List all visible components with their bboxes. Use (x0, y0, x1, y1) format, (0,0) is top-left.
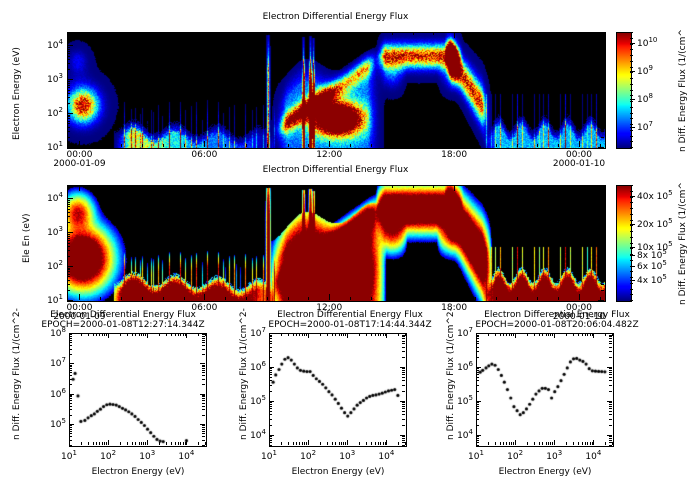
sp-ytick-minor (609, 357, 612, 358)
xtick-date-top-0: 2000-01-09 (49, 159, 109, 169)
sp-ytick-minor (476, 438, 479, 439)
sp-xtick-minor (539, 333, 540, 336)
ytick-minor (601, 200, 604, 201)
xtick-date-bottom-0: 2000-01-09 (49, 312, 109, 322)
sp-xtick-minor (299, 442, 300, 445)
ytick-minor (67, 93, 70, 94)
ytick-minor (601, 204, 604, 205)
sp-xtick-label-left-3: 104 (164, 449, 208, 462)
sp-xtick-minor (405, 333, 406, 336)
sp-xtick (308, 440, 309, 445)
sp-xtick-minor (398, 333, 399, 336)
ytick-minor (67, 243, 70, 244)
sp-xtick-minor (341, 442, 342, 445)
sp-ytick-minor (402, 377, 405, 378)
xtick (184, 32, 185, 35)
sp-xtick (593, 440, 594, 445)
sp-ytick-minor (402, 385, 405, 386)
ytick-minor (67, 97, 70, 98)
sp-ytick-minor (609, 402, 612, 403)
xtick (79, 141, 80, 147)
sp-xtick (386, 333, 387, 338)
sp-xtick-minor (552, 333, 553, 336)
cbtick-minor (630, 208, 633, 209)
sp-xtick-minor (183, 442, 184, 445)
sp-xtick-minor (93, 442, 94, 445)
sp-xtick-minor (132, 442, 133, 445)
cbtick-minor (630, 294, 633, 295)
sp-ytick-minor (269, 347, 272, 348)
sp-ytick-minor (476, 402, 479, 403)
ytick-minor (67, 236, 70, 237)
sp-xtick-minor (304, 333, 305, 336)
xtick (433, 297, 434, 300)
ytick-minor (601, 115, 604, 116)
sp-ytick-minor (269, 351, 272, 352)
sp-xtick-minor (378, 333, 379, 336)
sp-ytick-minor (609, 406, 612, 407)
xtick (433, 144, 434, 147)
sp-ytick-minor (69, 398, 72, 399)
sp-ytick-minor (269, 445, 272, 446)
sp-ytick-minor (609, 380, 612, 381)
sp-ytick-minor (476, 380, 479, 381)
sp-xtick-minor (332, 442, 333, 445)
sp-xtick-minor (542, 333, 543, 336)
ytick-major (598, 79, 604, 80)
spectrum-right-xlabel: Electron Energy (eV) (477, 467, 613, 477)
sp-xtick-minor (585, 333, 586, 336)
sp-xtick-minor (81, 333, 82, 336)
ytick-minor (601, 69, 604, 70)
sp-xtick-minor (548, 333, 549, 336)
sp-xtick-label-right-2: 103 (532, 449, 576, 462)
sp-ytick-minor (609, 377, 612, 378)
sp-ytick-minor (269, 402, 272, 403)
ytick-minor (601, 216, 604, 217)
sp-ytick-minor (476, 391, 479, 392)
cbtick-minor (630, 72, 633, 73)
ytick-minor (67, 49, 70, 50)
xtick (433, 32, 434, 35)
xtick (225, 144, 226, 147)
sp-ytick-minor (476, 343, 479, 344)
xtick (142, 32, 143, 35)
sp-ytick-label-middle-2: 106 (241, 360, 266, 373)
ytick-major (67, 232, 73, 233)
sp-ytick-minor (402, 357, 405, 358)
ytick-minor (67, 269, 70, 270)
sp-ytick-minor (69, 354, 72, 355)
xtick (454, 185, 455, 191)
sp-ytick-minor (476, 341, 479, 342)
ytick-label-bottom-4: 104 (37, 191, 63, 204)
xtick (163, 144, 164, 147)
sp-xtick-minor (320, 333, 321, 336)
ytick-minor (67, 276, 70, 277)
ytick-minor (601, 87, 604, 88)
ytick-minor (601, 206, 604, 207)
sp-xtick-minor (552, 442, 553, 445)
sp-ytick-minor (69, 372, 72, 373)
sp-xtick (308, 333, 309, 338)
ytick-minor (67, 204, 70, 205)
sp-xtick-minor (102, 333, 103, 336)
ytick-minor (601, 222, 604, 223)
ytick-minor (67, 238, 70, 239)
sp-xtick-minor (88, 333, 89, 336)
sp-ytick-minor (476, 408, 479, 409)
xtick (184, 144, 185, 147)
sp-ytick-minor (269, 425, 272, 426)
ytick-minor (601, 276, 604, 277)
sp-xtick (347, 440, 348, 445)
sp-ytick-minor (202, 368, 205, 369)
ytick-minor (601, 209, 604, 210)
sp-xtick-minor (550, 442, 551, 445)
xtick (475, 144, 476, 147)
cbtick-minor (630, 271, 633, 272)
xtick (433, 185, 434, 188)
sp-xtick-label-right-0: 101 (454, 449, 498, 462)
sp-xtick-minor (587, 442, 588, 445)
ytick-minor (601, 127, 604, 128)
sp-ytick-minor (69, 366, 72, 367)
sp-ytick-minor (202, 406, 205, 407)
sp-xtick-minor (500, 333, 501, 336)
xtick (579, 32, 580, 38)
sp-xtick-minor (293, 333, 294, 336)
sp-xtick-minor (345, 333, 346, 336)
cbtick-minor (630, 260, 633, 261)
xtick (246, 185, 247, 188)
xtick (496, 32, 497, 35)
sp-xtick-minor (339, 442, 340, 445)
sp-xtick-minor (288, 333, 289, 336)
sp-xtick-minor (592, 333, 593, 336)
sp-xtick-minor (573, 333, 574, 336)
ytick-minor (67, 284, 70, 285)
sp-xtick-minor (127, 333, 128, 336)
sp-ytick-minor (402, 419, 405, 420)
sp-ytick-minor (476, 368, 479, 369)
sp-ytick-minor (202, 398, 205, 399)
ytick-major (598, 147, 604, 148)
sp-ytick-minor (402, 370, 405, 371)
xtick (579, 141, 580, 147)
sp-ytick-minor (269, 391, 272, 392)
sp-ytick-minor (402, 436, 405, 437)
sp-ytick-minor (269, 414, 272, 415)
cbtick-label-bottom-0: 4x 105 (637, 273, 667, 286)
cbtick-minor (630, 248, 633, 249)
sp-xtick-minor (104, 333, 105, 336)
sp-xtick-minor (511, 442, 512, 445)
sp-xtick-minor (495, 442, 496, 445)
spectrogram-bottom-ylabel: Ele En (eV) (22, 213, 32, 263)
ytick-minor (601, 51, 604, 52)
sp-ytick-minor (609, 347, 612, 348)
sp-ytick-minor (69, 384, 72, 385)
cbtick-label-bottom-3: 10x 105 (637, 240, 673, 253)
sp-xtick-minor (288, 442, 289, 445)
xtick (288, 297, 289, 300)
sp-xtick-minor (503, 442, 504, 445)
sp-ytick-minor (69, 403, 72, 404)
cbtick-minor (630, 277, 633, 278)
ytick-label-top-4: 104 (37, 38, 63, 51)
ytick-minor (67, 103, 70, 104)
cbtick-minor (630, 266, 633, 267)
sp-ytick-minor (609, 419, 612, 420)
sp-xtick-minor (341, 333, 342, 336)
sp-ytick-minor (202, 396, 205, 397)
sp-xtick-minor (503, 333, 504, 336)
sp-xtick-minor (135, 333, 136, 336)
xtick (308, 185, 309, 188)
sp-xtick-minor (281, 442, 282, 445)
sp-ytick-minor (609, 351, 612, 352)
xtick (558, 144, 559, 147)
sp-ytick-minor (476, 372, 479, 373)
sp-xtick (108, 333, 109, 338)
sp-ytick-minor (202, 342, 205, 343)
sp-ytick-minor (269, 377, 272, 378)
sp-xtick-minor (405, 442, 406, 445)
sp-ytick-label-middle-1: 105 (241, 394, 266, 407)
ytick-minor (601, 274, 604, 275)
sp-xtick-minor (306, 442, 307, 445)
ytick-major (598, 113, 604, 114)
xtick (225, 297, 226, 300)
ytick-minor (67, 206, 70, 207)
ytick-minor (601, 123, 604, 124)
sp-ytick-minor (402, 372, 405, 373)
cbtick-minor (630, 124, 633, 125)
sp-xtick-minor (139, 333, 140, 336)
sp-ytick-minor (476, 419, 479, 420)
sp-ytick-minor (402, 402, 405, 403)
xtick (79, 32, 80, 38)
sp-xtick-minor (339, 333, 340, 336)
xtick (537, 185, 538, 188)
sp-ytick-minor (476, 414, 479, 415)
ytick-minor (67, 271, 70, 272)
xtick (350, 144, 351, 147)
xtick (558, 32, 559, 35)
cbtick-minor (630, 101, 633, 102)
sp-ytick-minor (402, 391, 405, 392)
sp-ytick-minor (402, 368, 405, 369)
sp-xtick (476, 333, 477, 338)
cbtick (630, 280, 635, 281)
xtick (392, 32, 393, 35)
ytick-minor (67, 69, 70, 70)
xtick-label-bottom-3: 18:00 (424, 303, 484, 313)
cbtick-minor (630, 107, 633, 108)
ytick-minor (601, 256, 604, 257)
sp-ytick-minor (202, 379, 205, 380)
sp-ytick-minor (476, 385, 479, 386)
xtick (413, 144, 414, 147)
cbtick-minor (630, 197, 633, 198)
sp-xtick-minor (143, 442, 144, 445)
sp-xtick-minor (534, 442, 535, 445)
xtick (267, 32, 268, 35)
sp-ytick-minor (69, 345, 72, 346)
sp-ytick-label-right-0: 104 (448, 428, 473, 441)
ytick-minor (67, 59, 70, 60)
sp-ytick-minor (69, 349, 72, 350)
sp-ytick-label-left-0: 105 (41, 417, 66, 430)
sp-xtick-minor (612, 333, 613, 336)
xtick (184, 185, 185, 188)
ytick-minor (601, 97, 604, 98)
sp-xtick (69, 333, 70, 338)
sp-ytick-minor (69, 409, 72, 410)
xtick (350, 297, 351, 300)
sp-ytick-minor (402, 411, 405, 412)
sp-xtick-minor (335, 442, 336, 445)
sp-xtick-label-right-1: 102 (493, 449, 537, 462)
ytick-minor (601, 118, 604, 119)
sp-xtick (554, 440, 555, 445)
sp-ytick-minor (476, 370, 479, 371)
spectrum-left-xlabel: Electron Energy (eV) (70, 467, 206, 477)
xtick (121, 144, 122, 147)
sp-ytick-minor (202, 366, 205, 367)
cbtick-minor (630, 185, 633, 186)
sp-ytick-minor (609, 368, 612, 369)
sp-xtick-minor (327, 442, 328, 445)
sp-xtick-minor (343, 333, 344, 336)
cbtick-minor (630, 118, 633, 119)
sp-xtick-minor (605, 442, 606, 445)
xtick (350, 185, 351, 188)
sp-ytick-minor (202, 403, 205, 404)
sp-xtick-minor (205, 333, 206, 336)
cbtick-minor (630, 44, 633, 45)
sp-ytick-minor (269, 343, 272, 344)
sp-xtick-minor (587, 333, 588, 336)
sp-ytick-minor (269, 357, 272, 358)
sp-xtick-minor (375, 333, 376, 336)
xtick (267, 297, 268, 300)
sp-xtick-minor (106, 442, 107, 445)
sp-ytick-label-right-3: 107 (448, 326, 473, 339)
sp-ytick-minor (402, 440, 405, 441)
xtick (308, 144, 309, 147)
xtick (600, 144, 601, 147)
xtick (475, 297, 476, 300)
sp-xtick-minor (198, 333, 199, 336)
ytick-minor (601, 47, 604, 48)
sp-xtick-minor (506, 442, 507, 445)
sp-xtick-minor (332, 333, 333, 336)
sp-ytick-minor (202, 349, 205, 350)
sp-xtick (269, 440, 270, 445)
sp-xtick (147, 440, 148, 445)
cbtick-label-bottom-5: 40x 105 (637, 189, 673, 202)
sp-xtick-minor (500, 442, 501, 445)
sp-xtick-label-middle-3: 104 (364, 449, 408, 462)
cbtick-minor (630, 90, 633, 91)
sp-xtick-minor (578, 442, 579, 445)
ytick-major (67, 45, 73, 46)
sp-ytick-minor (609, 404, 612, 405)
sp-ytick-minor (69, 433, 72, 434)
ytick-major (67, 300, 73, 301)
cbtick-minor (630, 220, 633, 221)
sp-ytick-label-left-1: 106 (41, 387, 66, 400)
xtick (558, 297, 559, 300)
cbtick-minor (630, 38, 633, 39)
xtick (204, 32, 205, 38)
sp-ytick-minor (609, 391, 612, 392)
sp-xtick-minor (120, 442, 121, 445)
sp-xtick-minor (302, 442, 303, 445)
sp-ytick-minor (476, 338, 479, 339)
ytick-minor (601, 269, 604, 270)
sp-xtick-label-right-3: 104 (571, 449, 615, 462)
sp-ytick-minor (202, 409, 205, 410)
sp-ytick-label-right-1: 105 (448, 394, 473, 407)
sp-ytick-minor (269, 408, 272, 409)
ytick-minor (601, 202, 604, 203)
xtick (79, 294, 80, 300)
ytick-minor (601, 93, 604, 94)
sp-ytick-minor (402, 336, 405, 337)
sp-xtick-minor (509, 333, 510, 336)
xtick (392, 144, 393, 147)
sp-ytick-minor (402, 341, 405, 342)
sp-xtick-minor (375, 442, 376, 445)
sp-xtick-minor (175, 442, 176, 445)
xtick (204, 185, 205, 191)
xtick (121, 32, 122, 35)
cbtick-minor (630, 300, 633, 301)
xtick (579, 294, 580, 300)
ytick-minor (67, 202, 70, 203)
sp-ytick-minor (402, 374, 405, 375)
sp-xtick-minor (335, 333, 336, 336)
sp-xtick-minor (183, 333, 184, 336)
ytick-minor (67, 121, 70, 122)
sp-ytick-minor (202, 354, 205, 355)
ytick-minor (601, 137, 604, 138)
sp-xtick-minor (590, 442, 591, 445)
xtick (600, 185, 601, 188)
sp-xtick-minor (81, 442, 82, 445)
sp-xtick-minor (106, 333, 107, 336)
sp-xtick-minor (546, 442, 547, 445)
sp-ytick-minor (402, 445, 405, 446)
sp-xtick-minor (534, 333, 535, 336)
sp-ytick-minor (69, 396, 72, 397)
sp-ytick-label-left-3: 108 (41, 326, 66, 339)
sp-xtick-minor (166, 442, 167, 445)
sp-xtick-minor (582, 442, 583, 445)
sp-ytick-minor (269, 368, 272, 369)
sp-xtick (476, 440, 477, 445)
ytick-minor (67, 246, 70, 247)
sp-xtick-minor (385, 442, 386, 445)
sp-ytick-minor (269, 370, 272, 371)
cbtick-minor (630, 67, 633, 68)
ytick-minor (67, 47, 70, 48)
xtick (454, 294, 455, 300)
sp-ytick-minor (269, 380, 272, 381)
